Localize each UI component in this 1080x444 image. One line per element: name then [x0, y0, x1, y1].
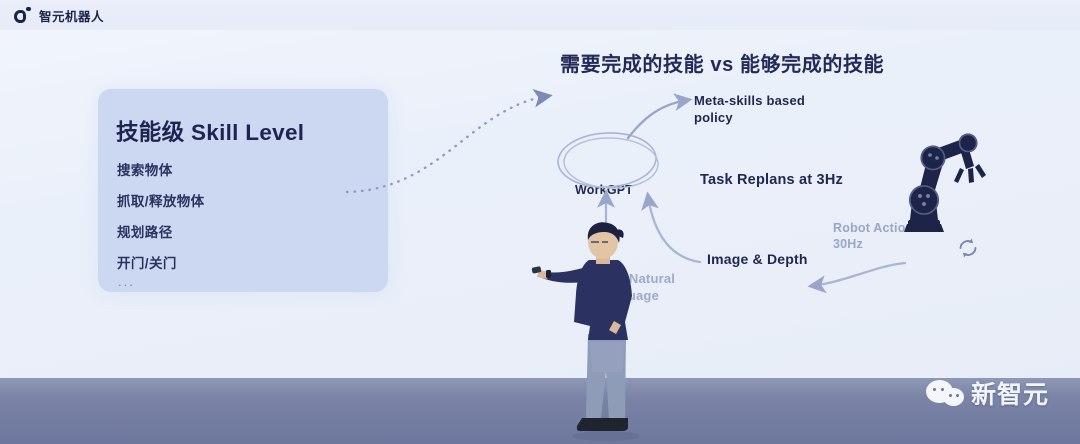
workgpt-ellipse-inner: [563, 136, 659, 189]
screenshot-root: 智元机器人 技能级 Skill Level 搜索物体 抓取/释放物体 规划路径 …: [0, 0, 1080, 444]
watermark-text: 新智元: [971, 375, 1049, 411]
brand-bar: 智元机器人: [0, 0, 1080, 30]
arrow-robot-to-imagedepth: [812, 263, 905, 286]
workgpt-ellipse-outer: [557, 130, 658, 189]
arrow-workgpt-to-policy: [628, 100, 688, 138]
wechat-icon: [926, 380, 966, 407]
connector-dotted-arrow: [347, 96, 548, 192]
watermark: 新智元: [926, 375, 1049, 411]
presenter: [530, 222, 660, 444]
refresh-cycle-icon: [961, 239, 976, 258]
zhiyuan-logo-icon: [14, 7, 31, 24]
brand-name: 智元机器人: [39, 6, 104, 25]
